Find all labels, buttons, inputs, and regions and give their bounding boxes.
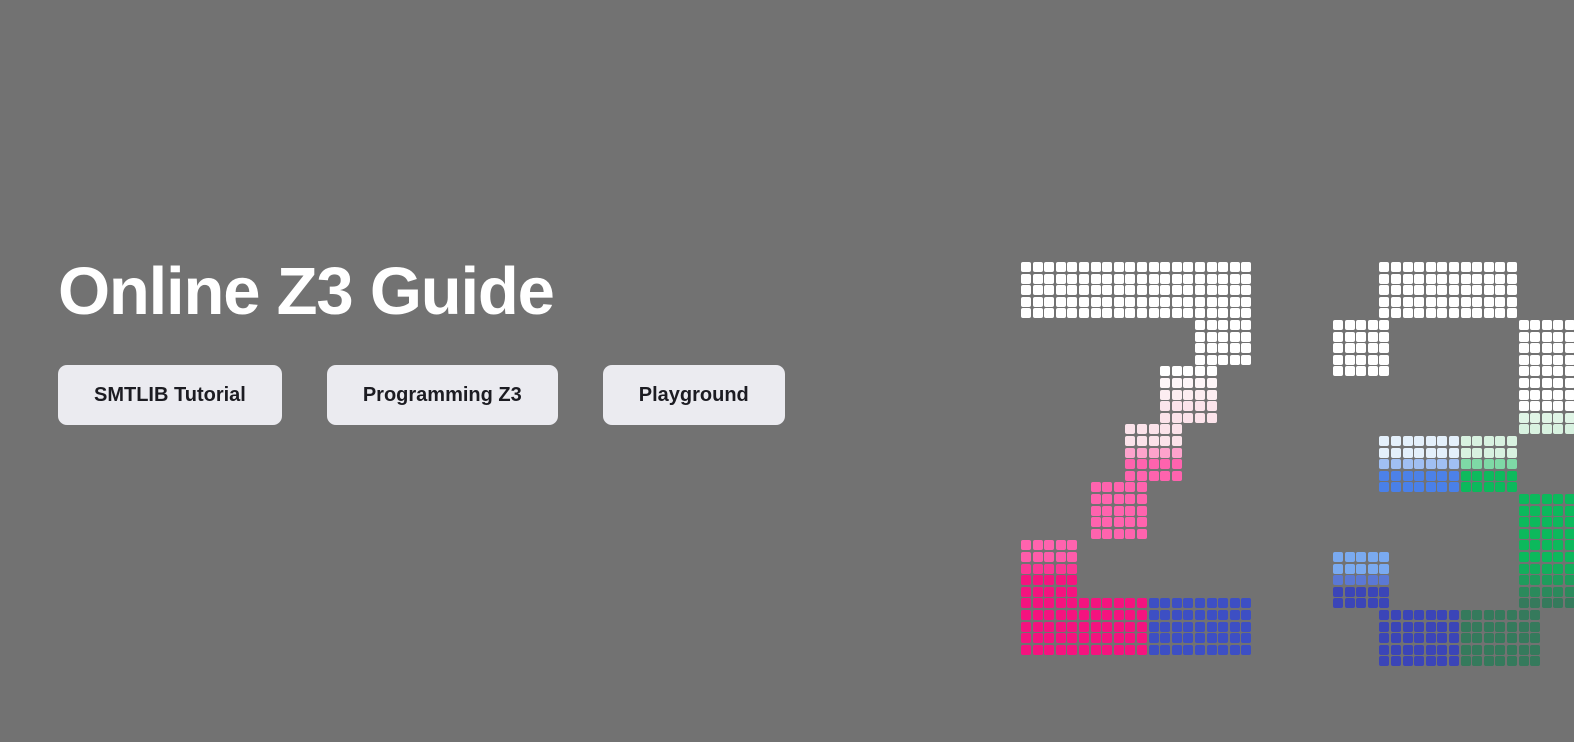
logo-pixel — [1137, 482, 1147, 492]
logo-pixel — [1114, 517, 1124, 527]
logo-pixel — [1044, 575, 1054, 585]
logo-pixel — [1449, 308, 1459, 318]
logo-pixel — [1461, 285, 1471, 295]
logo-pixel — [1044, 645, 1054, 655]
logo-pixel — [1461, 610, 1471, 620]
logo-pixel — [1044, 297, 1054, 307]
logo-pixel — [1241, 355, 1251, 365]
logo-pixel — [1530, 413, 1540, 423]
logo-pixel — [1519, 332, 1529, 342]
logo-pixel — [1230, 645, 1240, 655]
logo-pixel — [1183, 610, 1193, 620]
logo-pixel — [1183, 645, 1193, 655]
logo-pixel — [1519, 564, 1529, 574]
logo-pixel — [1149, 297, 1159, 307]
logo-pixel — [1333, 552, 1343, 562]
logo-pixel — [1218, 285, 1228, 295]
logo-pixel — [1033, 262, 1043, 272]
logo-pixel — [1391, 436, 1401, 446]
logo-pixel — [1218, 308, 1228, 318]
logo-pixel — [1530, 587, 1540, 597]
logo-pixel — [1542, 424, 1552, 434]
logo-pixel — [1033, 622, 1043, 632]
logo-pixel — [1067, 633, 1077, 643]
logo-pixel — [1195, 308, 1205, 318]
logo-pixel — [1114, 645, 1124, 655]
logo-pixel — [1183, 633, 1193, 643]
logo-pixel — [1044, 622, 1054, 632]
logo-pixel — [1125, 262, 1135, 272]
hero-button-row: SMTLIB Tutorial Programming Z3 Playgroun… — [58, 365, 785, 425]
logo-pixel — [1044, 274, 1054, 284]
logo-pixel — [1114, 285, 1124, 295]
logo-pixel — [1207, 285, 1217, 295]
logo-pixel — [1137, 274, 1147, 284]
logo-pixel — [1241, 645, 1251, 655]
logo-pixel — [1507, 633, 1517, 643]
logo-pixel — [1033, 308, 1043, 318]
logo-pixel — [1379, 366, 1389, 376]
logo-pixel — [1160, 598, 1170, 608]
logo-pixel — [1565, 494, 1574, 504]
logo-pixel — [1553, 355, 1563, 365]
logo-pixel — [1172, 448, 1182, 458]
logo-pixel — [1137, 285, 1147, 295]
logo-pixel — [1437, 262, 1447, 272]
logo-pixel — [1379, 645, 1389, 655]
logo-pixel — [1437, 610, 1447, 620]
logo-pixel — [1183, 285, 1193, 295]
logo-pixel — [1125, 274, 1135, 284]
logo-pixel — [1379, 471, 1389, 481]
logo-pixel — [1379, 564, 1389, 574]
logo-pixel — [1391, 308, 1401, 318]
logo-pixel — [1230, 610, 1240, 620]
logo-pixel — [1519, 552, 1529, 562]
logo-pixel — [1507, 448, 1517, 458]
logo-pixel — [1125, 517, 1135, 527]
logo-pixel — [1160, 413, 1170, 423]
logo-pixel — [1241, 610, 1251, 620]
logo-pixel — [1495, 274, 1505, 284]
logo-pixel — [1437, 448, 1447, 458]
logo-pixel — [1391, 285, 1401, 295]
logo-pixel — [1472, 308, 1482, 318]
logo-pixel — [1021, 610, 1031, 620]
logo-pixel — [1067, 610, 1077, 620]
logo-pixel — [1484, 656, 1494, 666]
logo-pixel — [1195, 610, 1205, 620]
logo-pixel — [1495, 308, 1505, 318]
logo-pixel — [1160, 448, 1170, 458]
logo-pixel — [1056, 540, 1066, 550]
logo-pixel — [1207, 598, 1217, 608]
logo-pixel — [1379, 552, 1389, 562]
logo-pixel — [1241, 297, 1251, 307]
logo-pixel — [1021, 285, 1031, 295]
logo-pixel — [1033, 274, 1043, 284]
logo-pixel — [1172, 274, 1182, 284]
logo-pixel — [1125, 285, 1135, 295]
logo-pixel — [1403, 482, 1413, 492]
logo-pixel — [1449, 448, 1459, 458]
logo-pixel — [1565, 575, 1574, 585]
logo-pixel — [1414, 308, 1424, 318]
programming-z3-button[interactable]: Programming Z3 — [327, 365, 558, 425]
logo-pixel — [1207, 366, 1217, 376]
logo-pixel — [1160, 308, 1170, 318]
logo-pixel — [1565, 424, 1574, 434]
logo-pixel — [1495, 482, 1505, 492]
logo-pixel — [1102, 506, 1112, 516]
logo-pixel — [1207, 390, 1217, 400]
logo-pixel — [1230, 332, 1240, 342]
logo-pixel — [1230, 343, 1240, 353]
logo-pixel — [1183, 390, 1193, 400]
logo-pixel — [1449, 633, 1459, 643]
logo-pixel — [1356, 332, 1366, 342]
logo-pixel — [1033, 575, 1043, 585]
logo-pixel — [1125, 529, 1135, 539]
logo-pixel — [1172, 610, 1182, 620]
logo-pixel — [1218, 343, 1228, 353]
logo-pixel — [1125, 308, 1135, 318]
logo-pixel — [1542, 529, 1552, 539]
logo-pixel — [1091, 274, 1101, 284]
logo-pixel — [1230, 262, 1240, 272]
logo-pixel — [1125, 598, 1135, 608]
logo-pixel — [1530, 552, 1540, 562]
logo-pixel — [1114, 308, 1124, 318]
logo-pixel — [1519, 587, 1529, 597]
logo-pixel — [1333, 575, 1343, 585]
logo-pixel — [1149, 459, 1159, 469]
logo-pixel — [1195, 343, 1205, 353]
logo-pixel — [1542, 552, 1552, 562]
logo-pixel — [1553, 366, 1563, 376]
logo-pixel — [1437, 482, 1447, 492]
logo-pixel — [1495, 459, 1505, 469]
logo-pixel — [1207, 297, 1217, 307]
logo-pixel — [1519, 633, 1529, 643]
logo-pixel — [1102, 645, 1112, 655]
logo-pixel — [1067, 645, 1077, 655]
logo-pixel — [1091, 297, 1101, 307]
logo-pixel — [1565, 506, 1574, 516]
logo-pixel — [1102, 308, 1112, 318]
logo-pixel — [1519, 355, 1529, 365]
logo-pixel — [1484, 482, 1494, 492]
logo-pixel — [1519, 401, 1529, 411]
logo-pixel — [1461, 622, 1471, 632]
logo-pixel — [1356, 575, 1366, 585]
logo-pixel — [1149, 308, 1159, 318]
logo-pixel — [1426, 656, 1436, 666]
logo-pixel — [1207, 633, 1217, 643]
logo-pixel — [1079, 598, 1089, 608]
logo-pixel — [1379, 459, 1389, 469]
logo-pixel — [1565, 390, 1574, 400]
logo-pixel — [1484, 297, 1494, 307]
logo-pixel — [1530, 366, 1540, 376]
logo-pixel — [1414, 656, 1424, 666]
logo-pixel — [1125, 506, 1135, 516]
logo-pixel — [1172, 378, 1182, 388]
logo-pixel — [1565, 378, 1574, 388]
logo-pixel — [1056, 610, 1066, 620]
logo-pixel — [1137, 645, 1147, 655]
logo-pixel — [1241, 598, 1251, 608]
logo-pixel — [1102, 633, 1112, 643]
logo-pixel — [1542, 564, 1552, 574]
logo-pixel — [1414, 297, 1424, 307]
logo-pixel — [1183, 297, 1193, 307]
logo-pixel — [1495, 285, 1505, 295]
logo-pixel — [1102, 274, 1112, 284]
logo-pixel — [1507, 285, 1517, 295]
logo-pixel — [1368, 575, 1378, 585]
logo-pixel — [1160, 633, 1170, 643]
logo-pixel — [1067, 274, 1077, 284]
logo-pixel — [1495, 436, 1505, 446]
logo-pixel — [1207, 413, 1217, 423]
logo-pixel — [1091, 262, 1101, 272]
logo-pixel — [1067, 552, 1077, 562]
logo-pixel — [1414, 274, 1424, 284]
logo-pixel — [1391, 656, 1401, 666]
logo-pixel — [1079, 285, 1089, 295]
logo-pixel — [1565, 552, 1574, 562]
logo-pixel — [1379, 448, 1389, 458]
logo-pixel — [1160, 285, 1170, 295]
logo-pixel — [1403, 656, 1413, 666]
logo-pixel — [1565, 517, 1574, 527]
logo-pixel — [1102, 622, 1112, 632]
logo-pixel — [1160, 459, 1170, 469]
logo-pixel — [1102, 494, 1112, 504]
logo-pixel — [1507, 262, 1517, 272]
logo-pixel — [1449, 622, 1459, 632]
logo-pixel — [1403, 622, 1413, 632]
logo-pixel — [1530, 540, 1540, 550]
logo-pixel — [1356, 355, 1366, 365]
logo-pixel — [1021, 552, 1031, 562]
logo-pixel — [1484, 262, 1494, 272]
logo-pixel — [1091, 482, 1101, 492]
logo-pixel — [1356, 366, 1366, 376]
logo-pixel — [1137, 459, 1147, 469]
logo-pixel — [1437, 633, 1447, 643]
logo-pixel — [1044, 285, 1054, 295]
logo-pixel — [1021, 274, 1031, 284]
logo-pixel — [1137, 436, 1147, 446]
logo-pixel — [1519, 506, 1529, 516]
logo-pixel — [1391, 622, 1401, 632]
logo-pixel — [1345, 552, 1355, 562]
logo-pixel — [1183, 274, 1193, 284]
logo-pixel — [1218, 262, 1228, 272]
logo-pixel — [1160, 262, 1170, 272]
logo-pixel — [1160, 471, 1170, 481]
logo-pixel — [1403, 262, 1413, 272]
logo-pixel — [1542, 320, 1552, 330]
logo-pixel — [1172, 401, 1182, 411]
logo-pixel — [1021, 575, 1031, 585]
logo-pixel — [1461, 482, 1471, 492]
logo-pixel — [1565, 320, 1574, 330]
logo-pixel — [1461, 633, 1471, 643]
logo-pixel — [1149, 633, 1159, 643]
logo-pixel — [1391, 633, 1401, 643]
logo-pixel — [1391, 274, 1401, 284]
logo-pixel — [1114, 529, 1124, 539]
logo-pixel — [1553, 401, 1563, 411]
logo-pixel — [1345, 320, 1355, 330]
logo-pixel — [1114, 610, 1124, 620]
logo-pixel — [1044, 598, 1054, 608]
logo-pixel — [1091, 622, 1101, 632]
logo-pixel — [1530, 633, 1540, 643]
logo-pixel — [1403, 448, 1413, 458]
logo-pixel — [1183, 401, 1193, 411]
logo-pixel — [1021, 297, 1031, 307]
logo-pixel — [1437, 297, 1447, 307]
logo-pixel — [1414, 448, 1424, 458]
logo-pixel — [1553, 332, 1563, 342]
logo-pixel — [1230, 598, 1240, 608]
logo-pixel — [1530, 529, 1540, 539]
logo-pixel — [1368, 343, 1378, 353]
logo-pixel — [1472, 459, 1482, 469]
logo-pixel — [1426, 448, 1436, 458]
logo-pixel — [1449, 610, 1459, 620]
logo-pixel — [1449, 436, 1459, 446]
logo-pixel — [1495, 622, 1505, 632]
logo-pixel — [1461, 274, 1471, 284]
logo-pixel — [1426, 622, 1436, 632]
logo-pixel — [1379, 332, 1389, 342]
logo-pixel — [1368, 564, 1378, 574]
logo-pixel — [1519, 529, 1529, 539]
logo-pixel — [1137, 506, 1147, 516]
logo-pixel — [1102, 482, 1112, 492]
logo-pixel — [1356, 343, 1366, 353]
logo-pixel — [1021, 308, 1031, 318]
logo-pixel — [1437, 285, 1447, 295]
logo-pixel — [1542, 494, 1552, 504]
logo-pixel — [1195, 297, 1205, 307]
logo-pixel — [1067, 598, 1077, 608]
logo-pixel — [1195, 622, 1205, 632]
logo-pixel — [1125, 471, 1135, 481]
logo-pixel — [1137, 448, 1147, 458]
logo-pixel — [1160, 622, 1170, 632]
logo-pixel — [1230, 622, 1240, 632]
logo-pixel — [1241, 308, 1251, 318]
logo-pixel — [1507, 610, 1517, 620]
logo-pixel — [1379, 343, 1389, 353]
logo-pixel — [1172, 436, 1182, 446]
logo-pixel — [1160, 645, 1170, 655]
logo-pixel — [1368, 366, 1378, 376]
logo-pixel — [1241, 343, 1251, 353]
logo-pixel — [1403, 459, 1413, 469]
logo-pixel — [1449, 645, 1459, 655]
logo-pixel — [1542, 390, 1552, 400]
logo-pixel — [1542, 540, 1552, 550]
logo-pixel — [1149, 598, 1159, 608]
logo-pixel — [1553, 587, 1563, 597]
logo-pixel — [1507, 482, 1517, 492]
logo-pixel — [1530, 401, 1540, 411]
logo-pixel — [1449, 274, 1459, 284]
logo-pixel — [1530, 622, 1540, 632]
logo-pixel — [1484, 308, 1494, 318]
logo-pixel — [1183, 413, 1193, 423]
logo-pixel — [1472, 262, 1482, 272]
logo-pixel — [1553, 390, 1563, 400]
logo-pixel — [1183, 378, 1193, 388]
logo-pixel — [1114, 274, 1124, 284]
logo-pixel — [1379, 436, 1389, 446]
logo-pixel — [1044, 587, 1054, 597]
logo-pixel — [1484, 285, 1494, 295]
logo-pixel — [1484, 610, 1494, 620]
logo-pixel — [1472, 285, 1482, 295]
logo-pixel — [1426, 482, 1436, 492]
logo-pixel — [1160, 424, 1170, 434]
smtlib-tutorial-button[interactable]: SMTLIB Tutorial — [58, 365, 282, 425]
logo-pixel — [1553, 575, 1563, 585]
logo-pixel — [1414, 610, 1424, 620]
logo-pixel — [1160, 378, 1170, 388]
logo-pixel — [1333, 598, 1343, 608]
logo-pixel — [1414, 262, 1424, 272]
logo-pixel — [1021, 564, 1031, 574]
logo-pixel — [1044, 262, 1054, 272]
logo-pixel — [1079, 262, 1089, 272]
logo-pixel — [1507, 459, 1517, 469]
logo-pixel — [1149, 262, 1159, 272]
logo-pixel — [1067, 587, 1077, 597]
logo-pixel — [1519, 424, 1529, 434]
logo-pixel — [1195, 262, 1205, 272]
logo-pixel — [1333, 355, 1343, 365]
logo-pixel — [1519, 656, 1529, 666]
logo-pixel — [1230, 355, 1240, 365]
logo-pixel — [1183, 366, 1193, 376]
logo-pixel — [1519, 378, 1529, 388]
logo-pixel — [1484, 459, 1494, 469]
logo-pixel — [1218, 274, 1228, 284]
logo-pixel — [1565, 564, 1574, 574]
logo-pixel — [1426, 308, 1436, 318]
logo-pixel — [1067, 564, 1077, 574]
logo-pixel — [1218, 598, 1228, 608]
logo-pixel — [1021, 622, 1031, 632]
logo-pixel — [1195, 320, 1205, 330]
logo-pixel — [1056, 308, 1066, 318]
logo-pixel — [1137, 633, 1147, 643]
logo-pixel — [1172, 297, 1182, 307]
logo-pixel — [1530, 424, 1540, 434]
playground-button[interactable]: Playground — [603, 365, 785, 425]
logo-pixel — [1207, 332, 1217, 342]
logo-pixel — [1472, 274, 1482, 284]
logo-pixel — [1021, 598, 1031, 608]
logo-pixel — [1079, 610, 1089, 620]
logo-pixel — [1125, 622, 1135, 632]
